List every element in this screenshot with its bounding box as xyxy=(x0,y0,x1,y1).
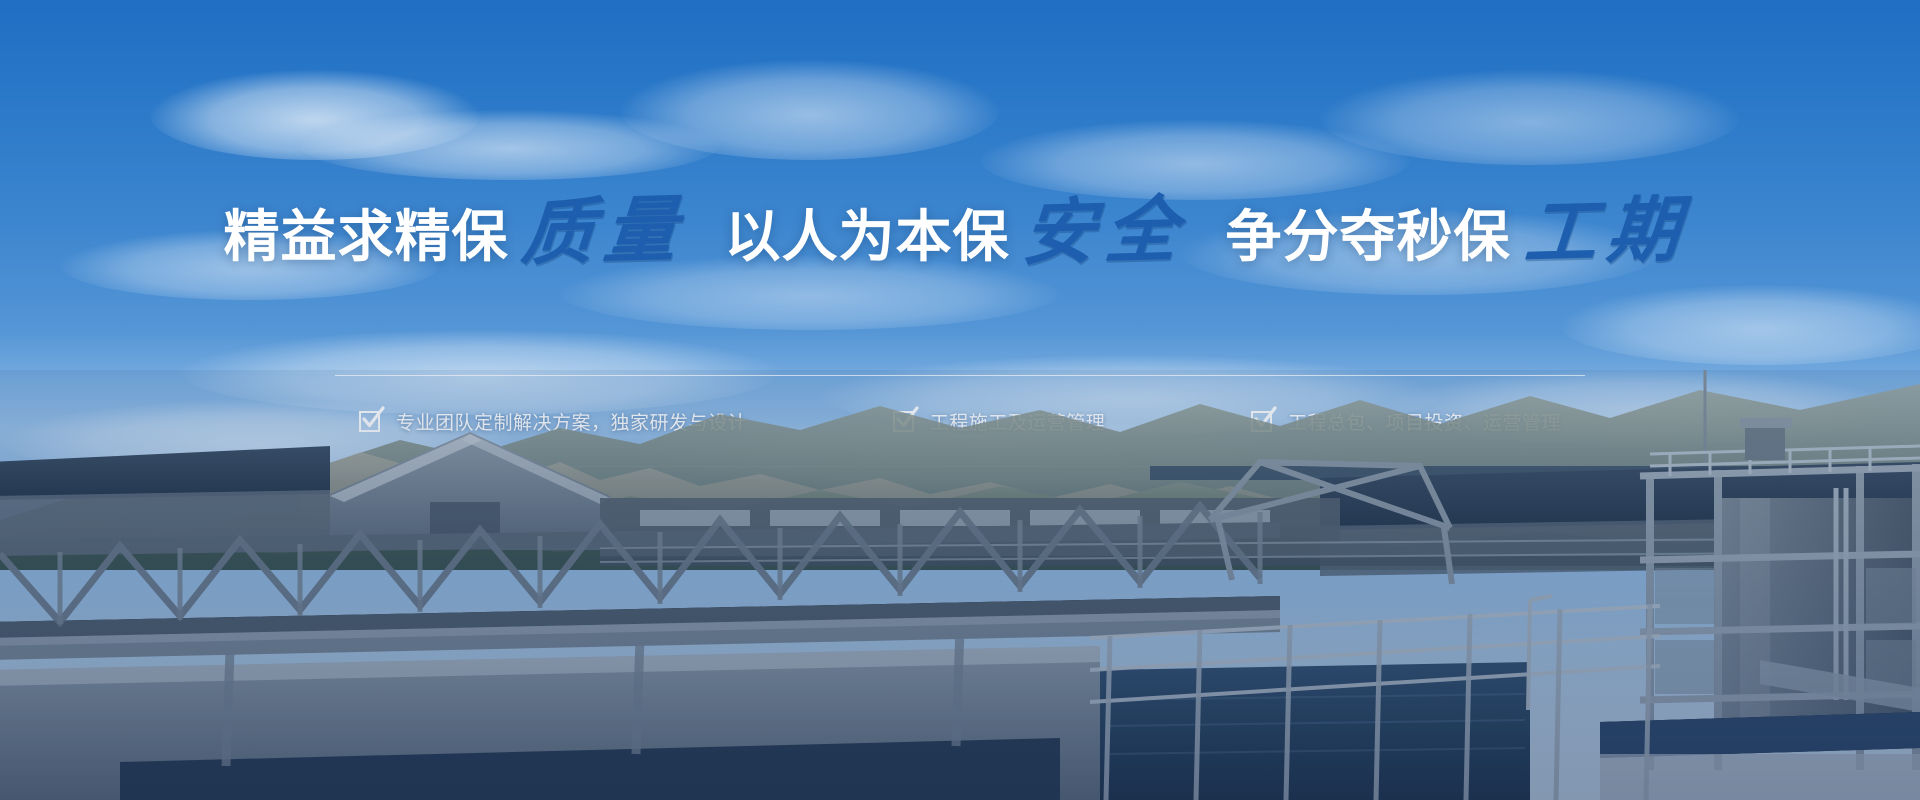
headline-segment-1: 精益求精保 xyxy=(223,209,508,265)
headline-segment-5: 争分夺秒保 xyxy=(1226,209,1511,265)
headline-segment-6: 工期 xyxy=(1521,194,1691,270)
water-treatment-plant xyxy=(0,370,1920,800)
headline-segment-2: 质量 xyxy=(519,194,689,270)
hero-banner: 精益求精保 质量 以人为本保 安全 争分夺秒保 工期 专业团队定制解决方案，独家… xyxy=(0,0,1920,800)
facility-photo xyxy=(0,370,1920,800)
headline-segment-3: 以人为本保 xyxy=(724,209,1009,265)
headline-segment-4: 安全 xyxy=(1020,194,1190,270)
banner-headline: 精益求精保 质量 以人为本保 安全 争分夺秒保 工期 xyxy=(0,196,1920,268)
